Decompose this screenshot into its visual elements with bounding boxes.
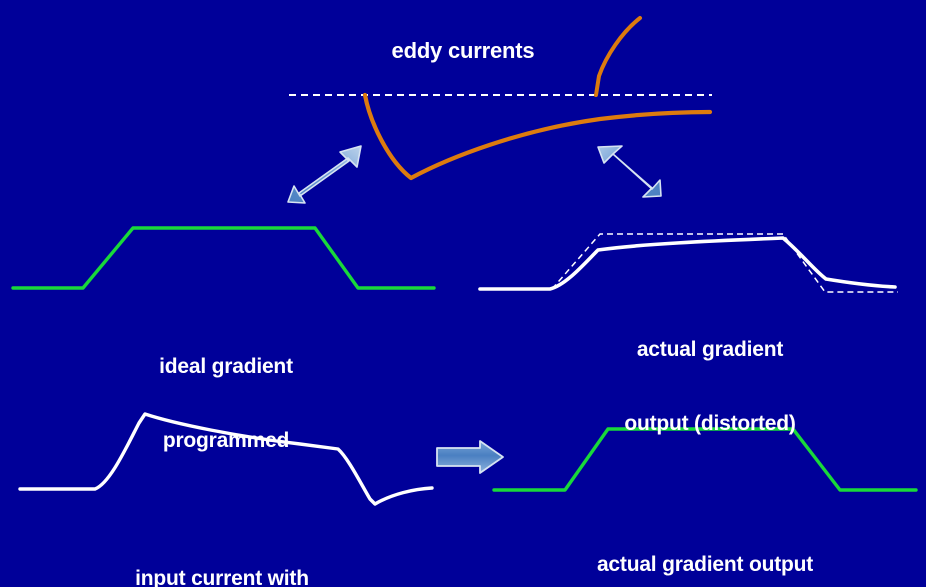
arrow-down-right [598,146,661,197]
input-current-label: input current with pre-emphasis [10,517,434,587]
eddy-current-pre-emphasis-diagram: eddy currents ideal gradient programmed … [0,0,926,587]
eddy-currents-label: eddy currents [0,38,926,64]
ideal-gradient-label: ideal gradient programmed [28,305,424,503]
actual-distorted-label-line2: output (distorted) [500,412,920,437]
input-current-label-line1: input current with [10,567,434,587]
ideal-gradient-label-line1: ideal gradient [28,355,424,380]
arrow-up-right [288,146,361,203]
eddy-decay-curve [365,95,710,178]
actual-distorted-label: actual gradient output (distorted) [500,288,920,486]
actual-distorted-waveform [480,234,898,292]
ideal-gradient-label-line2: programmed [28,429,424,454]
ideal-gradient-waveform [13,228,434,288]
arrow-right [437,441,503,473]
actual-distorted-label-line1: actual gradient [500,338,920,363]
actual-ideal-label-line1: actual gradient output [490,553,920,578]
distorted-output-curve [480,238,895,289]
actual-ideal-label: actual gradient output (<<1% error; clos… [490,503,920,587]
